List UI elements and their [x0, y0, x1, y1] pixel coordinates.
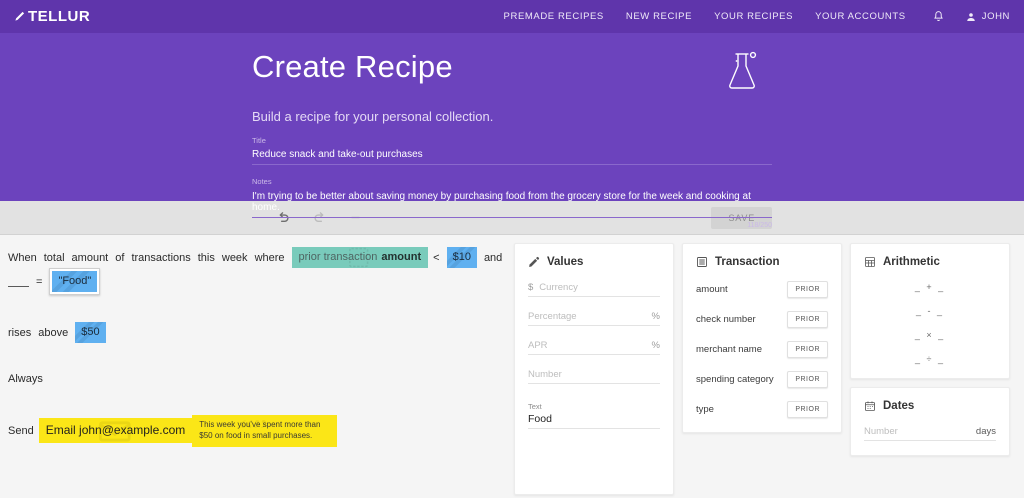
person-icon [965, 11, 977, 23]
grid-icon [864, 256, 876, 268]
transaction-card: Transaction amount PRIOR check number PR… [682, 243, 842, 433]
rule-line-1: When total amount of transactions this w… [8, 247, 512, 295]
user-menu[interactable]: JOHN [965, 11, 1010, 23]
nav-link-premade-recipes[interactable]: PREMADE RECIPES [504, 11, 604, 22]
palette-panels: Values $ Currency Percentage % APR % [512, 235, 1024, 498]
condition-chip-prior-transaction-amount[interactable]: prior transaction amount [292, 247, 429, 268]
transaction-label-check-number: check number [696, 314, 756, 325]
notes-field-value[interactable]: I'm trying to be better about saving mon… [252, 191, 772, 218]
notes-field[interactable]: Notes I'm trying to be better about savi… [252, 178, 772, 229]
list-icon [696, 256, 708, 268]
top-navbar: TELLUR PREMADE RECIPES NEW RECIPE YOUR R… [0, 0, 1024, 33]
value-chip-10[interactable]: $10 [447, 247, 477, 268]
dates-days-suffix: days [976, 426, 996, 437]
values-column: Values $ Currency Percentage % APR % [514, 243, 674, 498]
prior-button-check-number[interactable]: PRIOR [787, 311, 828, 328]
transaction-card-title: Transaction [715, 256, 780, 268]
arithmetic-card-title: Arithmetic [883, 256, 940, 268]
recipe-canvas: When total amount of transactions this w… [0, 235, 512, 498]
operator-equals: = [36, 276, 42, 288]
bell-icon[interactable] [932, 10, 945, 23]
rule-line-3: Always [8, 373, 512, 385]
arithmetic-op-multiply[interactable]: _ × _ [864, 330, 996, 340]
dates-card: Dates Number days [850, 387, 1010, 456]
transaction-row-check-number: check number PRIOR [696, 311, 828, 328]
value-chip-50-text: $50 [81, 326, 99, 338]
transaction-column: Transaction amount PRIOR check number PR… [682, 243, 842, 498]
brand-logo[interactable]: TELLUR [14, 8, 90, 25]
dates-card-header: Dates [864, 400, 996, 412]
value-chip-50[interactable]: $50 [75, 322, 105, 343]
rule-line-4: Send Email john@example.com “” This week… [8, 415, 512, 447]
transaction-label-amount: amount [696, 284, 728, 295]
user-name: JOHN [982, 11, 1010, 22]
rule-word-where: where [255, 252, 285, 264]
rule-word-send: Send [8, 425, 34, 437]
transaction-row-spending-category: spending category PRIOR [696, 371, 828, 388]
message-chip-text: This week you've spent more than $50 on … [199, 420, 330, 442]
values-card-title: Values [547, 256, 583, 268]
message-chip-wrapper: “” This week you've spent more than $50 … [192, 415, 337, 447]
right-column: Arithmetic _ + _ _ - _ _ × _ _ ÷ _ [850, 243, 1010, 498]
arithmetic-card: Arithmetic _ + _ _ - _ _ × _ _ ÷ _ [850, 243, 1010, 379]
prior-button-spending-category[interactable]: PRIOR [787, 371, 828, 388]
percentage-placeholder: Percentage [528, 311, 646, 322]
value-chip-food-text: "Food" [58, 275, 91, 287]
transaction-label-merchant-name: merchant name [696, 344, 762, 355]
arithmetic-card-header: Arithmetic [864, 256, 996, 268]
prior-button-amount[interactable]: PRIOR [787, 281, 828, 298]
rule-line-2: rises above $50 [8, 322, 512, 343]
values-card: Values $ Currency Percentage % APR % [514, 243, 674, 495]
currency-prefix: $ [528, 282, 533, 293]
nav-link-new-recipe[interactable]: NEW RECIPE [626, 11, 692, 22]
nav-icons: JOHN [932, 10, 1010, 23]
rule-word-transactions: transactions [131, 252, 190, 264]
hero-inner: Create Recipe Build a recipe for your pe… [252, 33, 772, 229]
values-card-header: Values [528, 256, 660, 268]
operator-less-than: < [433, 252, 439, 264]
number-field[interactable]: Number [528, 369, 660, 384]
nav-link-your-accounts[interactable]: YOUR ACCOUNTS [815, 11, 906, 22]
number-placeholder: Number [528, 369, 660, 380]
rule-word-rises: rises [8, 327, 31, 339]
prior-button-merchant-name[interactable]: PRIOR [787, 341, 828, 358]
calendar-icon [864, 400, 876, 412]
apr-field[interactable]: APR % [528, 340, 660, 355]
dates-number-placeholder: Number [864, 426, 970, 437]
action-chip-email-text: Email john@example.com [46, 423, 186, 437]
arithmetic-op-divide[interactable]: _ ÷ _ [864, 354, 996, 364]
prior-button-type[interactable]: PRIOR [787, 401, 828, 418]
rule-word-amount: amount [72, 252, 109, 264]
dates-number-field[interactable]: Number days [864, 426, 996, 441]
nav-links: PREMADE RECIPES NEW RECIPE YOUR RECIPES … [504, 11, 906, 22]
rule-word-week: week [222, 252, 248, 264]
transaction-row-type: type PRIOR [696, 401, 828, 418]
nav-link-your-recipes[interactable]: YOUR RECIPES [714, 11, 793, 22]
rule-word-this: this [198, 252, 215, 264]
condition-chip-field: amount [381, 251, 421, 263]
transaction-row-amount: amount PRIOR [696, 281, 828, 298]
page-subtitle: Build a recipe for your personal collect… [252, 109, 772, 124]
page-title: Create Recipe [252, 49, 772, 85]
transaction-label-spending-category: spending category [696, 374, 774, 385]
arithmetic-op-subtract[interactable]: _ - _ [864, 306, 996, 316]
title-field-label: Title [252, 137, 772, 145]
rule-word-and: and [484, 252, 502, 264]
currency-field[interactable]: $ Currency [528, 282, 660, 297]
notes-field-label: Notes [252, 178, 772, 186]
rule-word-when: When [8, 252, 37, 264]
rule-word-above: above [38, 327, 68, 339]
apr-suffix: % [652, 340, 660, 351]
brand-name: TELLUR [28, 8, 90, 25]
percentage-suffix: % [652, 311, 660, 322]
selected-chip-wrapper[interactable]: "Food" [49, 268, 100, 295]
workspace: When total amount of transactions this w… [0, 235, 1024, 498]
rule-word-always: Always [8, 373, 43, 385]
rule-word-total: total [44, 252, 65, 264]
flask-icon [722, 49, 762, 98]
value-chip-10-text: $10 [453, 251, 471, 263]
rule-word-of: of [115, 252, 124, 264]
transaction-label-type: type [696, 404, 714, 415]
text-field[interactable]: Text Food [528, 402, 660, 429]
percentage-field[interactable]: Percentage % [528, 311, 660, 326]
value-chip-food[interactable]: "Food" [52, 271, 97, 292]
notes-char-counter: 118/250 [252, 222, 772, 229]
dates-card-title: Dates [883, 400, 914, 412]
title-field[interactable]: Title Reduce snack and take-out purchase… [252, 137, 772, 166]
currency-placeholder: Currency [539, 282, 660, 293]
empty-slot[interactable] [8, 276, 29, 287]
apr-placeholder: APR [528, 340, 646, 351]
message-chip[interactable]: “” This week you've spent more than $50 … [192, 415, 337, 447]
pencil-icon [528, 256, 540, 268]
value-chip-food-inner: "Food" [52, 271, 97, 292]
text-field-label: Text [528, 402, 660, 411]
title-field-value[interactable]: Reduce snack and take-out purchases [252, 149, 772, 165]
transaction-card-header: Transaction [696, 256, 828, 268]
action-chip-email[interactable]: Email john@example.com [39, 418, 193, 443]
transaction-row-merchant-name: merchant name PRIOR [696, 341, 828, 358]
condition-chip-lead: prior transaction [299, 251, 378, 263]
app-root: TELLUR PREMADE RECIPES NEW RECIPE YOUR R… [0, 0, 1024, 498]
text-field-value[interactable]: Food [528, 413, 660, 425]
arithmetic-op-add[interactable]: _ + _ [864, 282, 996, 292]
pencil-icon [14, 11, 25, 22]
hero-section: Create Recipe Build a recipe for your pe… [0, 33, 1024, 201]
